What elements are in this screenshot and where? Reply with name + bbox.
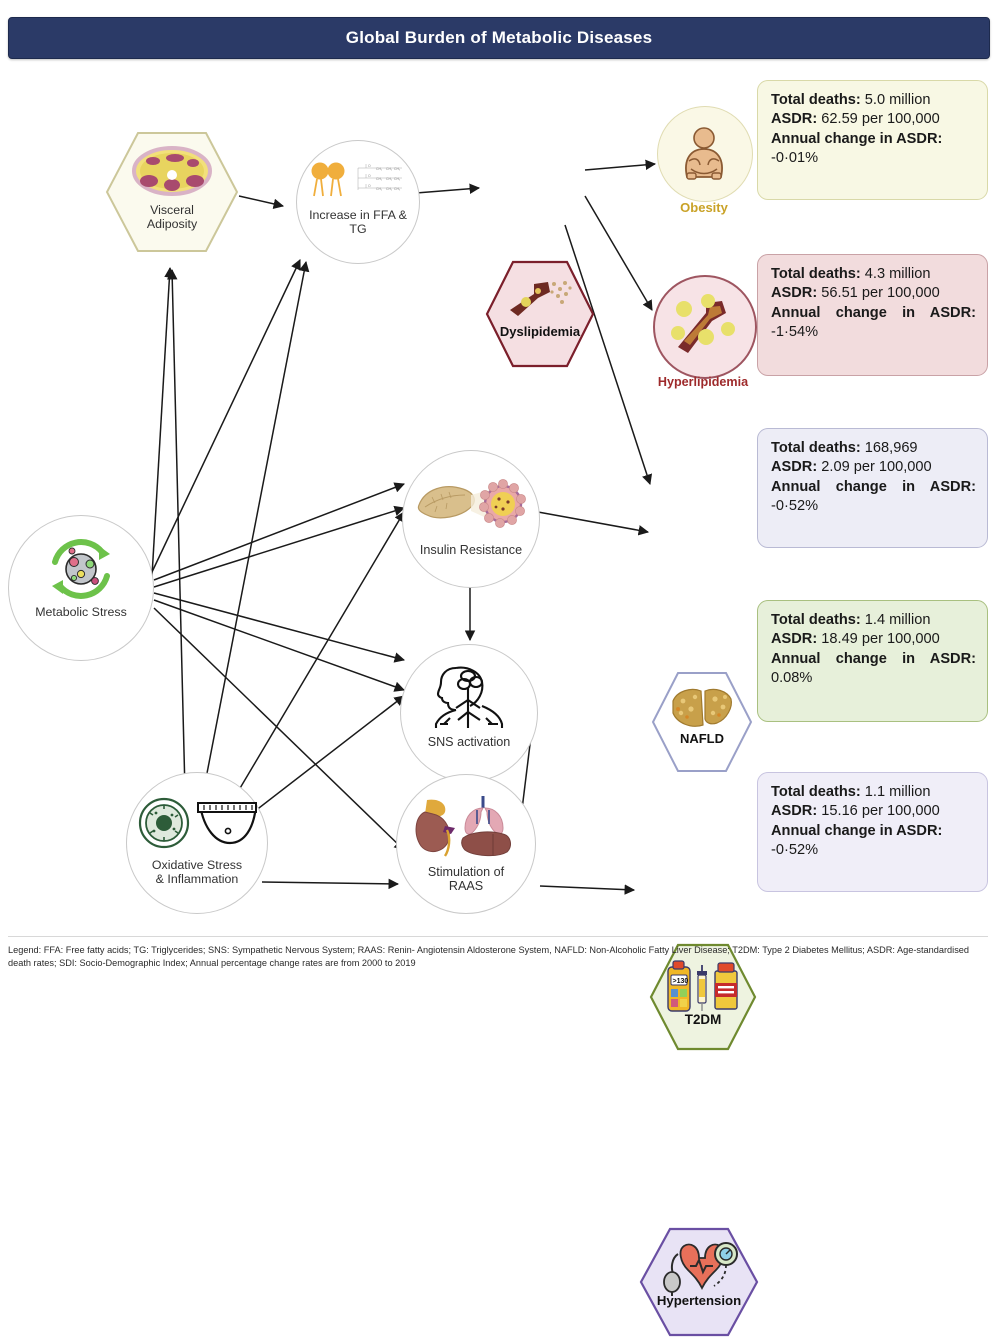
svg-text:O: O bbox=[368, 164, 371, 168]
total-deaths-row: Total deaths: 5.0 million bbox=[771, 91, 976, 110]
svg-text:CH₂: CH₂ bbox=[376, 187, 383, 191]
annual-change-value: -1·54% bbox=[771, 323, 976, 342]
annual-change-label: Annual change in ASDR: bbox=[771, 822, 976, 841]
lipid-droplet-icon: OOO CH₂CH₂CH₃ CH₂CH₂CH₃ CH₂CH₂CH₃ bbox=[297, 159, 419, 205]
asdr-row: ASDR: 62.59 per 100,000 bbox=[771, 110, 976, 129]
info-card-nafld: Total deaths: 168,969 ASDR: 2.09 per 100… bbox=[757, 428, 988, 548]
node-obesity[interactable]: Obesity bbox=[657, 106, 751, 218]
asdr-value: 18.49 per 100,000 bbox=[821, 631, 939, 647]
total-deaths-value: 5.0 million bbox=[865, 92, 931, 108]
node-hyperlipidemia[interactable]: Hyperlipidemia bbox=[653, 275, 753, 393]
kidney-lung-liver-icon bbox=[397, 793, 535, 859]
fatty-artery-icon bbox=[653, 291, 753, 359]
svg-text:O: O bbox=[368, 184, 371, 188]
asdr-row: ASDR: 15.16 per 100,000 bbox=[771, 802, 976, 821]
legend: Legend: FFA: Free fatty acids; TG: Trigl… bbox=[8, 944, 988, 971]
svg-text:CH₂: CH₂ bbox=[376, 177, 383, 181]
asdr-row: ASDR: 18.49 per 100,000 bbox=[771, 630, 976, 649]
total-deaths-label: Total deaths: bbox=[771, 612, 861, 628]
artery-plaque-icon bbox=[484, 275, 596, 323]
asdr-label: ASDR: bbox=[771, 285, 817, 301]
info-card-t2dm: Total deaths: 1.4 million ASDR: 18.49 pe… bbox=[757, 600, 988, 722]
cell-cycle-icon bbox=[9, 538, 153, 600]
nervous-system-icon bbox=[401, 661, 537, 731]
total-deaths-value: 1.1 million bbox=[865, 784, 931, 800]
node-dyslipidemia[interactable]: Dyslipidemia bbox=[484, 259, 596, 369]
annual-change-label: Annual change in ASDR: bbox=[771, 130, 976, 149]
node-insulin-resistance[interactable]: Insulin Resistance bbox=[402, 450, 540, 588]
total-deaths-label: Total deaths: bbox=[771, 440, 861, 456]
node-nafld[interactable]: NAFLD bbox=[650, 670, 754, 774]
svg-text:CH₃: CH₃ bbox=[394, 187, 401, 191]
node-ffa-tg[interactable]: OOO CH₂CH₂CH₃ CH₂CH₂CH₃ CH₂CH₂CH₃ Increa… bbox=[296, 140, 420, 264]
info-card-obesity: Total deaths: 5.0 million ASDR: 62.59 pe… bbox=[757, 80, 988, 200]
info-card-hypertension: Total deaths: 1.1 million ASDR: 15.16 pe… bbox=[757, 772, 988, 892]
node-hypertension[interactable]: Hypertension bbox=[638, 1226, 760, 1338]
annual-change-label: Annual change in ASDR: bbox=[771, 478, 976, 497]
svg-text:CH₂: CH₂ bbox=[386, 187, 393, 191]
total-deaths-row: Total deaths: 1.1 million bbox=[771, 783, 976, 802]
node-label: Stimulation of RAAS bbox=[397, 865, 535, 893]
node-sns-activation[interactable]: SNS activation bbox=[400, 644, 538, 782]
pancreas-islet-icon bbox=[403, 473, 539, 535]
asdr-row: ASDR: 56.51 per 100,000 bbox=[771, 284, 976, 303]
node-label: Oxidative Stress & Inflammation bbox=[127, 859, 267, 887]
asdr-label: ASDR: bbox=[771, 459, 817, 475]
svg-text:CH₂: CH₂ bbox=[386, 167, 393, 171]
info-card-hyperlipidemia: Total deaths: 4.3 million ASDR: 56.51 pe… bbox=[757, 254, 988, 376]
total-deaths-row: Total deaths: 168,969 bbox=[771, 439, 976, 458]
asdr-label: ASDR: bbox=[771, 803, 817, 819]
node-metabolic-stress[interactable]: Metabolic Stress bbox=[8, 515, 154, 661]
glucose-reading: >130 bbox=[673, 978, 689, 985]
asdr-value: 15.16 per 100,000 bbox=[821, 803, 939, 819]
legend-divider bbox=[8, 936, 988, 937]
node-label: Increase in FFA & TG bbox=[297, 209, 419, 237]
svg-text:CH₃: CH₃ bbox=[394, 177, 401, 181]
asdr-row: ASDR: 2.09 per 100,000 bbox=[771, 458, 976, 477]
node-label: Obesity bbox=[657, 201, 751, 216]
svg-text:O: O bbox=[368, 174, 371, 178]
annual-change-value: -0·52% bbox=[771, 497, 976, 516]
total-deaths-row: Total deaths: 1.4 million bbox=[771, 611, 976, 630]
obese-person-icon bbox=[657, 126, 751, 182]
page-title: Global Burden of Metabolic Diseases bbox=[346, 28, 652, 48]
node-label: Metabolic Stress bbox=[9, 606, 153, 620]
annual-change-value: 0.08% bbox=[771, 669, 976, 688]
total-deaths-value: 168,969 bbox=[865, 440, 918, 456]
node-oxidative-stress[interactable]: Oxidative Stress & Inflammation bbox=[126, 772, 268, 914]
fatty-liver-icon bbox=[650, 684, 754, 732]
annual-change-label: Annual change in ASDR: bbox=[771, 650, 976, 669]
svg-text:CH₂: CH₂ bbox=[376, 167, 383, 171]
abdominal-ct-icon bbox=[104, 142, 240, 200]
svg-text:CH₃: CH₃ bbox=[394, 167, 401, 171]
sphygmomanometer-heart-icon bbox=[638, 1240, 760, 1296]
total-deaths-value: 4.3 million bbox=[865, 266, 931, 282]
total-deaths-label: Total deaths: bbox=[771, 266, 861, 282]
legend-text: Legend: FFA: Free fatty acids; TG: Trigl… bbox=[8, 945, 969, 968]
total-deaths-row: Total deaths: 4.3 million bbox=[771, 265, 976, 284]
asdr-value: 62.59 per 100,000 bbox=[821, 111, 939, 127]
total-deaths-label: Total deaths: bbox=[771, 92, 861, 108]
node-raas[interactable]: Stimulation of RAAS bbox=[396, 774, 536, 914]
asdr-label: ASDR: bbox=[771, 631, 817, 647]
node-visceral-adiposity[interactable]: Visceral Adiposity bbox=[104, 130, 240, 254]
page-title-bar: Global Burden of Metabolic Diseases bbox=[8, 17, 990, 59]
annual-change-value: -0·52% bbox=[771, 841, 976, 860]
total-deaths-label: Total deaths: bbox=[771, 784, 861, 800]
asdr-value: 2.09 per 100,000 bbox=[821, 459, 931, 475]
asdr-value: 56.51 per 100,000 bbox=[821, 285, 939, 301]
node-label: Insulin Resistance bbox=[403, 543, 539, 557]
diagram-canvas: Visceral Adiposity OOO CH₂CH₂CH₃ bbox=[0, 60, 996, 930]
annual-change-value: -0·01% bbox=[771, 149, 976, 168]
inflamed-cell-waist-icon bbox=[127, 793, 267, 855]
total-deaths-value: 1.4 million bbox=[865, 612, 931, 628]
asdr-label: ASDR: bbox=[771, 111, 817, 127]
svg-text:CH₂: CH₂ bbox=[386, 177, 393, 181]
annual-change-label: Annual change in ASDR: bbox=[771, 304, 976, 323]
node-label: SNS activation bbox=[401, 735, 537, 749]
